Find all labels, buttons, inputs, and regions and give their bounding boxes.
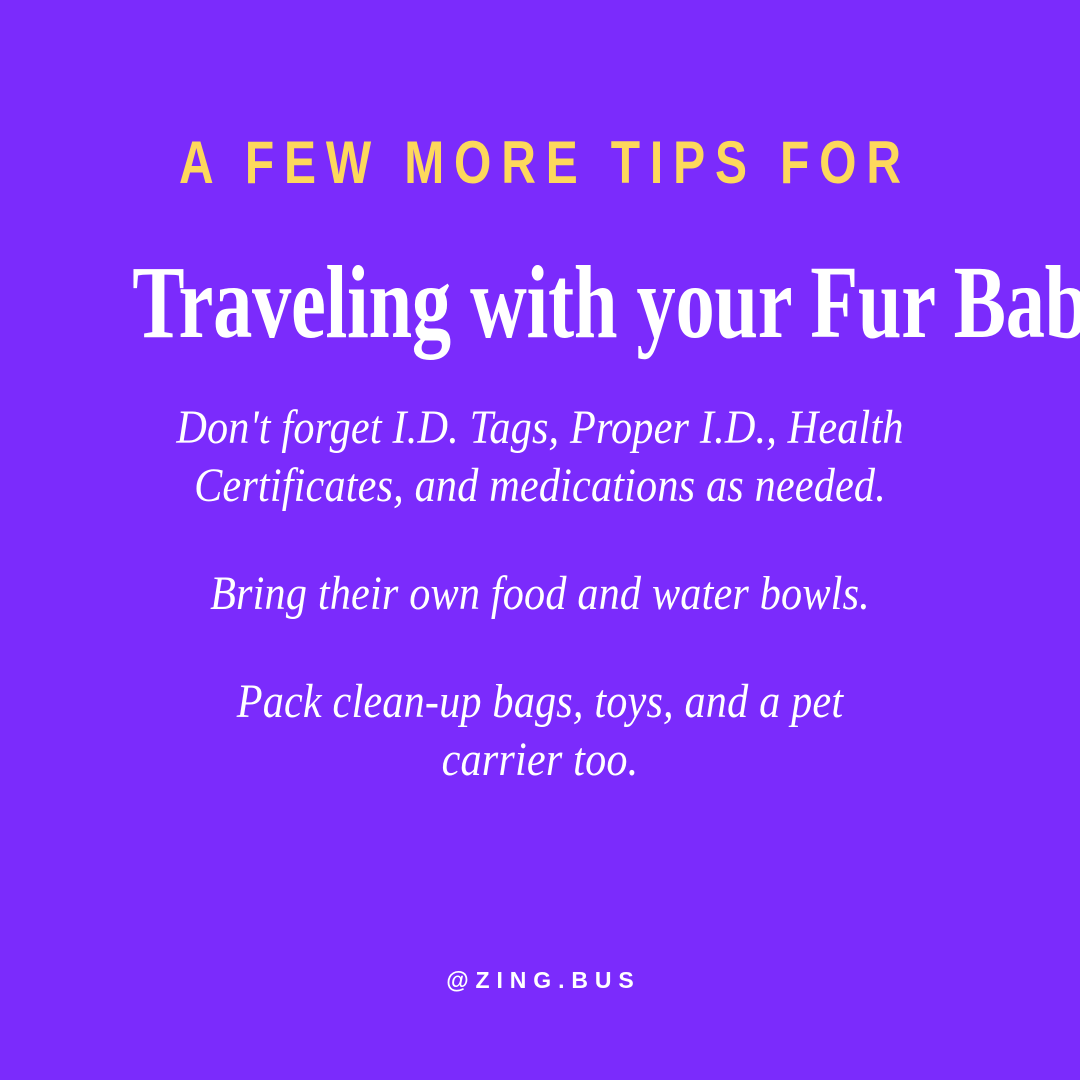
body-line: Bring their own food and water bowls. [65, 565, 1015, 623]
body-paragraph: Pack clean-up bags, toys, and a pet carr… [65, 673, 1015, 789]
body-line: Pack clean-up bags, toys, and a pet [65, 673, 1015, 731]
poster-canvas: A FEW MORE TIPS FOR Traveling with your … [0, 0, 1080, 1080]
page-title: Traveling with your Fur Babies [132, 248, 947, 358]
body-paragraph: Don't forget I.D. Tags, Proper I.D., Hea… [65, 399, 1015, 515]
eyebrow-heading: A FEW MORE TIPS FOR [108, 128, 972, 198]
social-handle: @ZING.BUS [0, 966, 1080, 994]
body-copy: Don't forget I.D. Tags, Proper I.D., Hea… [0, 399, 1080, 789]
body-paragraph: Bring their own food and water bowls. [65, 565, 1015, 623]
body-line: Certificates, and medications as needed. [65, 457, 1015, 515]
body-line: carrier too. [65, 731, 1015, 789]
body-line: Don't forget I.D. Tags, Proper I.D., Hea… [65, 399, 1015, 457]
